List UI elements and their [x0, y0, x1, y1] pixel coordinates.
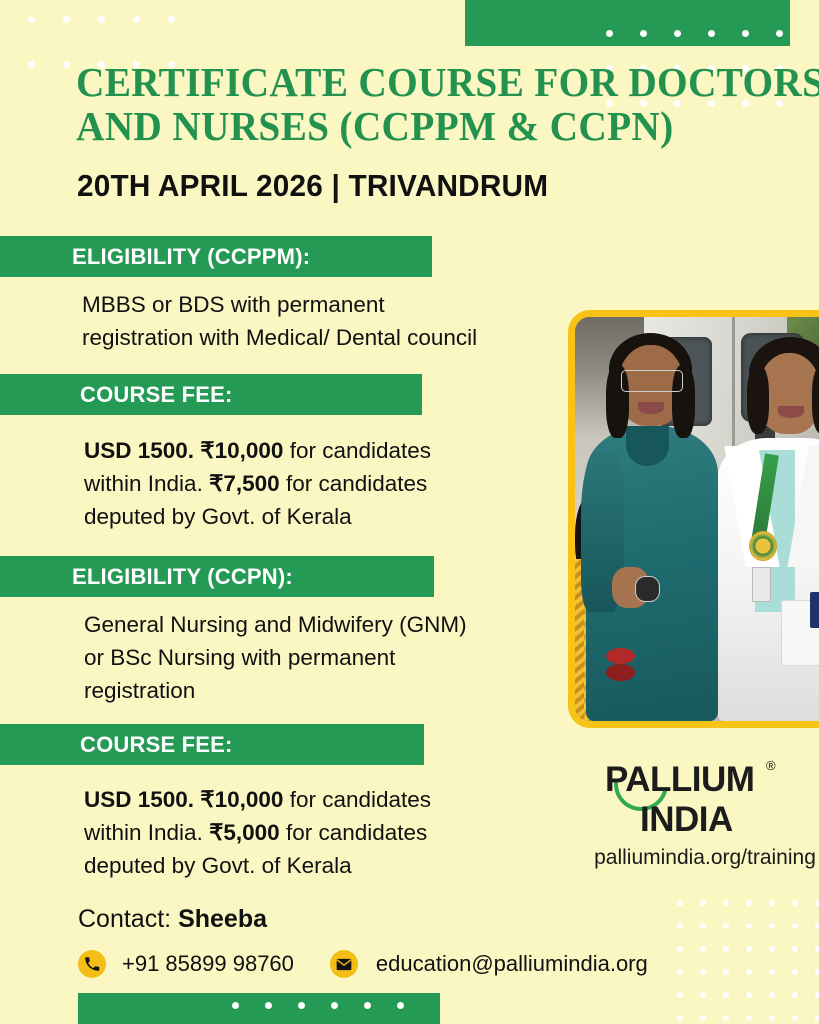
decorative-dot [769, 1015, 775, 1021]
decorative-dot [723, 923, 729, 929]
decorative-dot [723, 900, 729, 906]
banner-label: ELIGIBILITY (CCPN): [72, 564, 293, 590]
pallium-india-logo: PALLIUM ® INDIA palliumindia.org/trainin… [585, 760, 819, 804]
event-date-location: 20TH APRIL 2026 | TRIVANDRUM [77, 168, 548, 204]
decorative-dot [677, 923, 683, 929]
title-line-2: AND NURSES (CCPPM & CCPN) [76, 104, 777, 148]
decorative-dot [723, 1015, 729, 1021]
decorative-dot [769, 923, 775, 929]
decorative-dot [769, 969, 775, 975]
course-fee-ccppm-text: USD 1500. ₹10,000 for candidates within … [84, 434, 554, 533]
email-address[interactable]: education@palliumindia.org [376, 951, 648, 977]
eligibility-ccpn-text: General Nursing and Midwifery (GNM) or B… [84, 608, 564, 707]
envelope-icon [330, 950, 358, 978]
decorative-dot [769, 900, 775, 906]
course-fee-ccpn-text: USD 1500. ₹10,000 for candidates within … [84, 783, 554, 882]
decorative-dot [700, 1015, 706, 1021]
decorative-dot [746, 900, 752, 906]
poster-canvas: CERTIFICATE COURSE FOR DOCTORS AND NURSE… [0, 0, 819, 1024]
decorative-dot [815, 969, 819, 975]
decorative-dot [769, 992, 775, 998]
decorative-dot [815, 992, 819, 998]
contact-person-name: Sheeba [178, 905, 267, 933]
decorative-dot [98, 16, 105, 23]
decorative-dot [792, 992, 798, 998]
decorative-dot [677, 969, 683, 975]
decorative-dot [792, 969, 798, 975]
eligibility-ccppm-text: MBBS or BDS with permanent registration … [82, 288, 552, 354]
decorative-dot [700, 969, 706, 975]
decorative-dot [792, 900, 798, 906]
decorative-dot [746, 969, 752, 975]
decorative-dot [133, 16, 140, 23]
decorative-dot [815, 1015, 819, 1021]
banner-label: COURSE FEE: [80, 732, 233, 758]
decorative-dot [746, 992, 752, 998]
decorative-dot [677, 900, 683, 906]
banner-course-fee-ccppm: COURSE FEE: [0, 374, 422, 415]
decorative-dot [28, 61, 35, 68]
page-title: CERTIFICATE COURSE FOR DOCTORS AND NURSE… [76, 60, 806, 148]
decorative-dot [723, 992, 729, 998]
decorative-dot [677, 946, 683, 952]
contact-person: Contact: Sheeba [78, 905, 267, 934]
decorative-dot [769, 946, 775, 952]
decorative-dot [792, 946, 798, 952]
decorative-dot [677, 1015, 683, 1021]
banner-eligibility-ccppm: ELIGIBILITY (CCPPM): [0, 236, 432, 277]
contact-label: Contact: [78, 905, 178, 933]
fee-amount: USD 1500. ₹10,000 [84, 787, 283, 812]
title-line-1: CERTIFICATE COURSE FOR DOCTORS [76, 60, 777, 104]
banner-label: ELIGIBILITY (CCPPM): [72, 244, 310, 270]
decorative-dot [168, 16, 175, 23]
decorative-dot [815, 900, 819, 906]
decorative-dot [63, 16, 70, 23]
decorative-dot [700, 992, 706, 998]
decorative-dot [28, 16, 35, 23]
decorative-dot [700, 946, 706, 952]
contact-details-row: +91 85899 98760 education@palliumindia.o… [78, 950, 648, 978]
fee-amount: ₹7,500 [209, 471, 280, 496]
decorative-dot [746, 923, 752, 929]
decorative-dot [723, 946, 729, 952]
website-url[interactable]: palliumindia.org/training [540, 846, 819, 870]
decorative-dot [723, 969, 729, 975]
fee-amount: ₹5,000 [209, 820, 280, 845]
decorative-dot [700, 923, 706, 929]
banner-course-fee-ccpn: COURSE FEE: [0, 724, 424, 765]
phone-icon [78, 950, 106, 978]
decorative-dot [792, 1015, 798, 1021]
decorative-dot [792, 923, 798, 929]
banner-eligibility-ccpn: ELIGIBILITY (CCPN): [0, 556, 434, 597]
logo-brand-bottom: INDIA [640, 800, 733, 840]
bottom-green-accent-bar [78, 993, 440, 1024]
top-green-accent-block [465, 0, 790, 46]
decorative-dot [677, 992, 683, 998]
fee-amount: USD 1500. ₹10,000 [84, 438, 283, 463]
banner-label: COURSE FEE: [80, 382, 233, 408]
decorative-dot [746, 1015, 752, 1021]
decorative-dot [815, 923, 819, 929]
decorative-dot [63, 61, 70, 68]
photo-healthcare-workers [568, 310, 819, 728]
decorative-dot [746, 946, 752, 952]
registered-trademark-icon: ® [766, 758, 776, 773]
phone-number[interactable]: +91 85899 98760 [122, 951, 294, 977]
decorative-dot [700, 900, 706, 906]
decorative-dot [815, 946, 819, 952]
logo-brand-top: PALLIUM [605, 760, 754, 800]
